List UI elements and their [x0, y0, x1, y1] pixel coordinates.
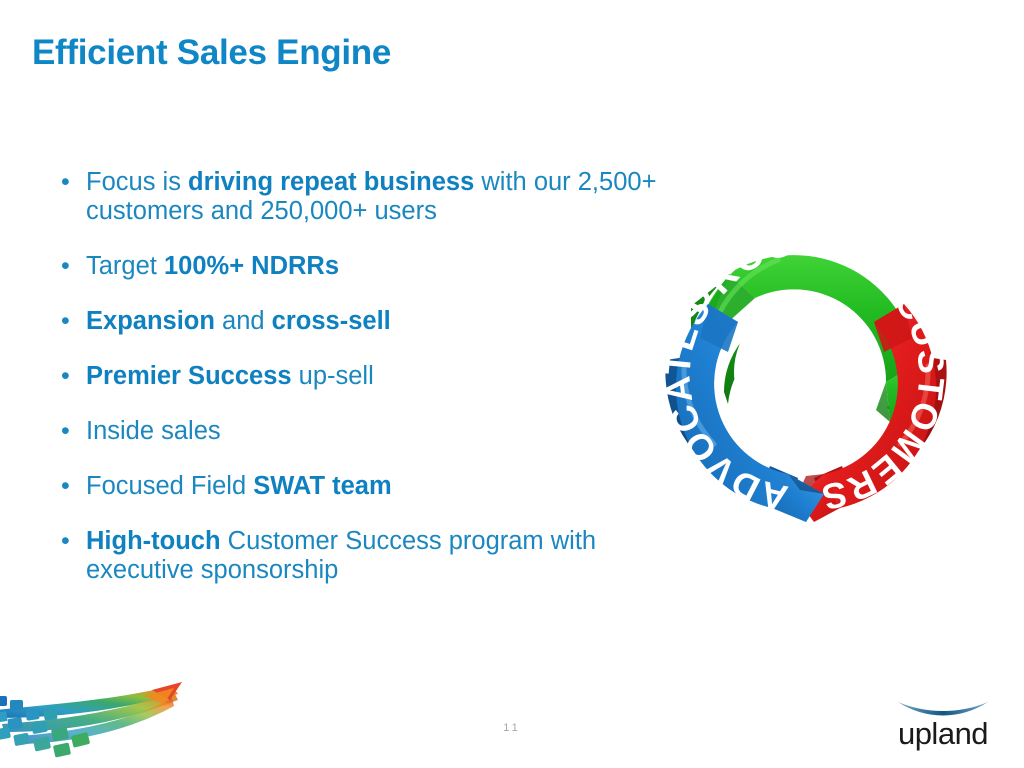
- cycle-diagram: PROSPECTS CUSTOMERS: [628, 186, 984, 542]
- bullet-item-3: •Expansion and cross-sell: [56, 307, 676, 336]
- bullet-emphasis: cross-sell: [272, 307, 391, 335]
- bullet-text: Focus is driving repeat business with ou…: [86, 168, 676, 226]
- bullet-item-2: •Target 100%+ NDRRs: [56, 252, 676, 281]
- bullet-plain: and: [215, 307, 272, 335]
- slide: Efficient Sales Engine •Focus is driving…: [0, 0, 1024, 768]
- page-title: Efficient Sales Engine: [32, 33, 391, 73]
- bullet-plain: Target: [86, 252, 164, 280]
- bullet-text: Expansion and cross-sell: [86, 307, 676, 336]
- bullet-list: •Focus is driving repeat business with o…: [56, 168, 676, 585]
- bullet-marker-icon: •: [56, 362, 86, 391]
- bullet-item-5: •Inside sales: [56, 417, 676, 446]
- bullet-emphasis: driving repeat business: [188, 168, 474, 196]
- tiled-swoosh-graphic: [0, 666, 224, 768]
- bullet-emphasis: High-touch: [86, 527, 221, 555]
- bullet-marker-icon: •: [56, 307, 86, 336]
- bullet-text: High-touch Customer Success program with…: [86, 527, 676, 585]
- bullet-item-6: •Focused Field SWAT team: [56, 472, 676, 501]
- bullet-item-4: •Premier Success up-sell: [56, 362, 676, 391]
- bullet-plain: Focus is: [86, 168, 188, 196]
- bullet-marker-icon: •: [56, 168, 86, 197]
- bullet-text: Premier Success up-sell: [86, 362, 676, 391]
- bullet-emphasis: SWAT team: [253, 472, 391, 500]
- bullet-emphasis: Expansion: [86, 307, 215, 335]
- bullet-emphasis: Premier Success: [86, 362, 292, 390]
- logo-swoosh-icon: [898, 702, 988, 716]
- bullet-plain: Focused Field: [86, 472, 253, 500]
- page-number: 11: [0, 722, 1024, 734]
- cycle-center-hole: [734, 300, 878, 444]
- bullet-item-1: •Focus is driving repeat business with o…: [56, 168, 676, 226]
- bullet-text: Target 100%+ NDRRs: [86, 252, 676, 281]
- bullet-marker-icon: •: [56, 252, 86, 281]
- bullet-marker-icon: •: [56, 472, 86, 501]
- bullet-marker-icon: •: [56, 527, 86, 556]
- bullet-text: Focused Field SWAT team: [86, 472, 676, 501]
- bullet-plain: Inside sales: [86, 417, 221, 445]
- bullet-item-7: •High-touch Customer Success program wit…: [56, 527, 676, 585]
- bullet-emphasis: 100%+ NDRRs: [164, 252, 339, 280]
- bullet-text: Inside sales: [86, 417, 676, 446]
- bullet-plain: up-sell: [292, 362, 374, 390]
- bullet-marker-icon: •: [56, 417, 86, 446]
